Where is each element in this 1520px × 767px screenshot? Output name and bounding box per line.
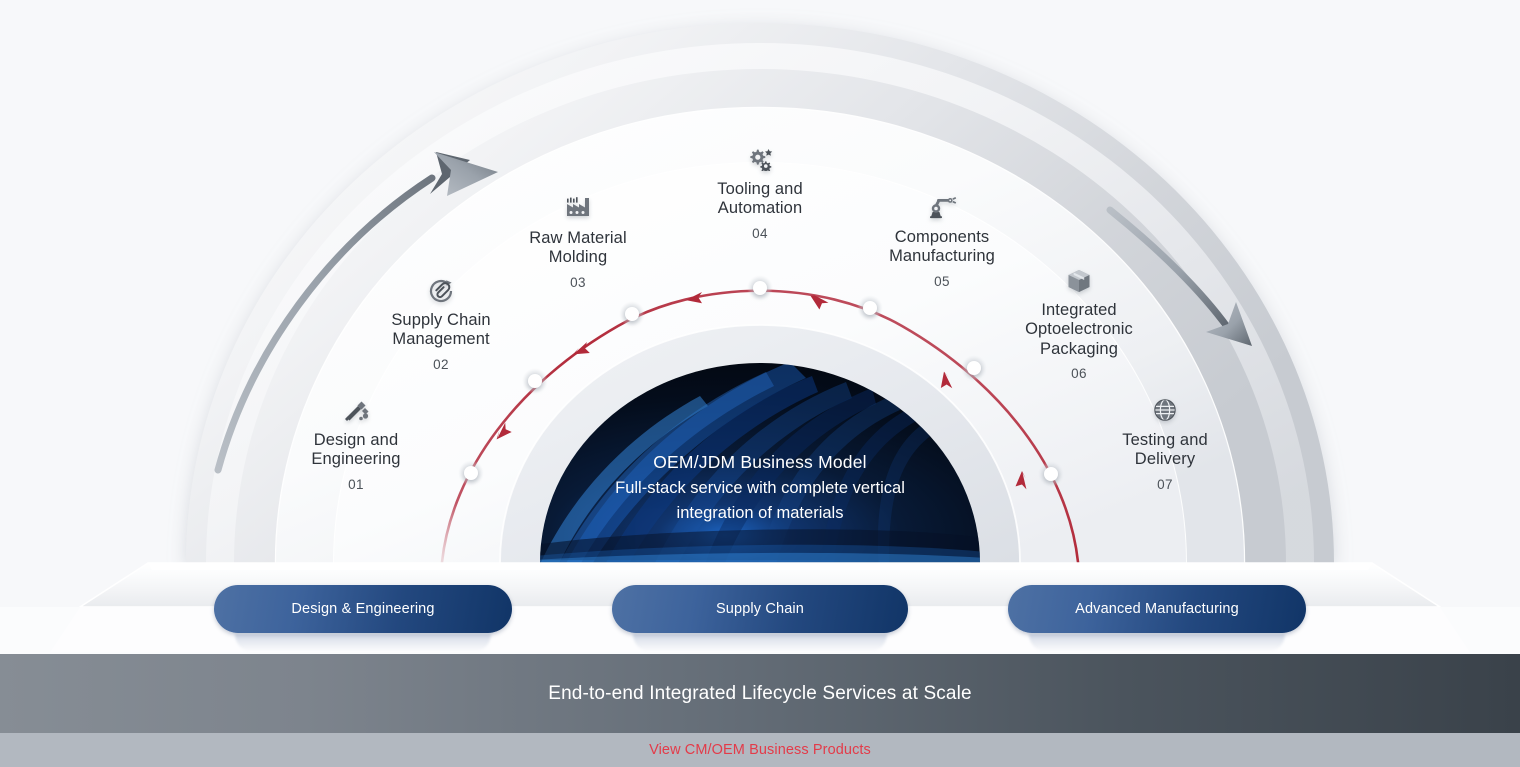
flow-node-05[interactable] [863,301,877,315]
factory-icon [473,196,683,222]
step-design-and-engineering[interactable]: Design andEngineering01 [251,398,461,493]
step-title-line: Packaging [974,340,1184,359]
category-button-row: Design & EngineeringSupply ChainAdvanced… [0,585,1520,637]
step-number: 02 [336,357,546,373]
step-title-line: Design and [251,431,461,450]
step-supply-chain-management[interactable]: Supply ChainManagement02 [336,278,546,373]
dome-graphic [0,0,1520,767]
step-number: 07 [1060,477,1270,493]
view-products-link[interactable]: View CM/OEM Business Products [649,742,871,758]
package-box-icon [974,268,1184,294]
step-title-line: Raw Material [473,229,683,248]
step-testing-and-delivery[interactable]: Testing andDelivery07 [1060,398,1270,493]
step-number: 01 [251,477,461,493]
step-raw-material-molding[interactable]: Raw MaterialMolding03 [473,196,683,291]
infographic-stage: Design andEngineering01Supply ChainManag… [0,0,1520,767]
flow-node-03[interactable] [625,307,639,321]
button-supply-chain[interactable]: Supply Chain [612,585,908,633]
step-title-line: Supply Chain [336,311,546,330]
step-title-line: Delivery [1060,450,1270,469]
step-title-line: Components [837,228,1047,247]
flow-node-02[interactable] [528,374,542,388]
step-title-line: Molding [473,248,683,267]
button-wrapper: Design & Engineering [214,585,512,633]
step-title-line: Testing and [1060,431,1270,450]
flow-node-07[interactable] [1044,467,1058,481]
step-number: 06 [974,366,1184,382]
banner-text: End-to-end Integrated Lifecycle Services… [548,683,971,705]
step-title-line: Tooling and [655,180,865,199]
step-number: 03 [473,275,683,291]
step-tooling-and-automation[interactable]: Tooling andAutomation04 [655,147,865,242]
globe-icon [1060,398,1270,424]
step-title-line: Automation [655,199,865,218]
step-title-line: Integrated [974,301,1184,320]
button-advanced-manufacturing[interactable]: Advanced Manufacturing [1008,585,1306,633]
robot-arm-icon [837,195,1047,221]
flow-node-04[interactable] [753,281,767,295]
button-wrapper: Advanced Manufacturing [1008,585,1306,633]
step-title-line: Engineering [251,450,461,469]
step-number: 04 [655,226,865,242]
button-wrapper: Supply Chain [612,585,908,633]
step-title-line: Manufacturing [837,247,1047,266]
step-title-line: Management [336,330,546,349]
bottom-link-bar: View CM/OEM Business Products [0,733,1520,767]
tools-icon [251,398,461,424]
step-title-line: Optoelectronic [974,320,1184,339]
gears-icon [655,147,865,173]
flow-node-01[interactable] [464,466,478,480]
step-integrated-optoelectronic-packaging[interactable]: IntegratedOptoelectronicPackaging06 [974,268,1184,382]
button-design-engineering[interactable]: Design & Engineering [214,585,512,633]
bottom-banner: End-to-end Integrated Lifecycle Services… [0,654,1520,733]
